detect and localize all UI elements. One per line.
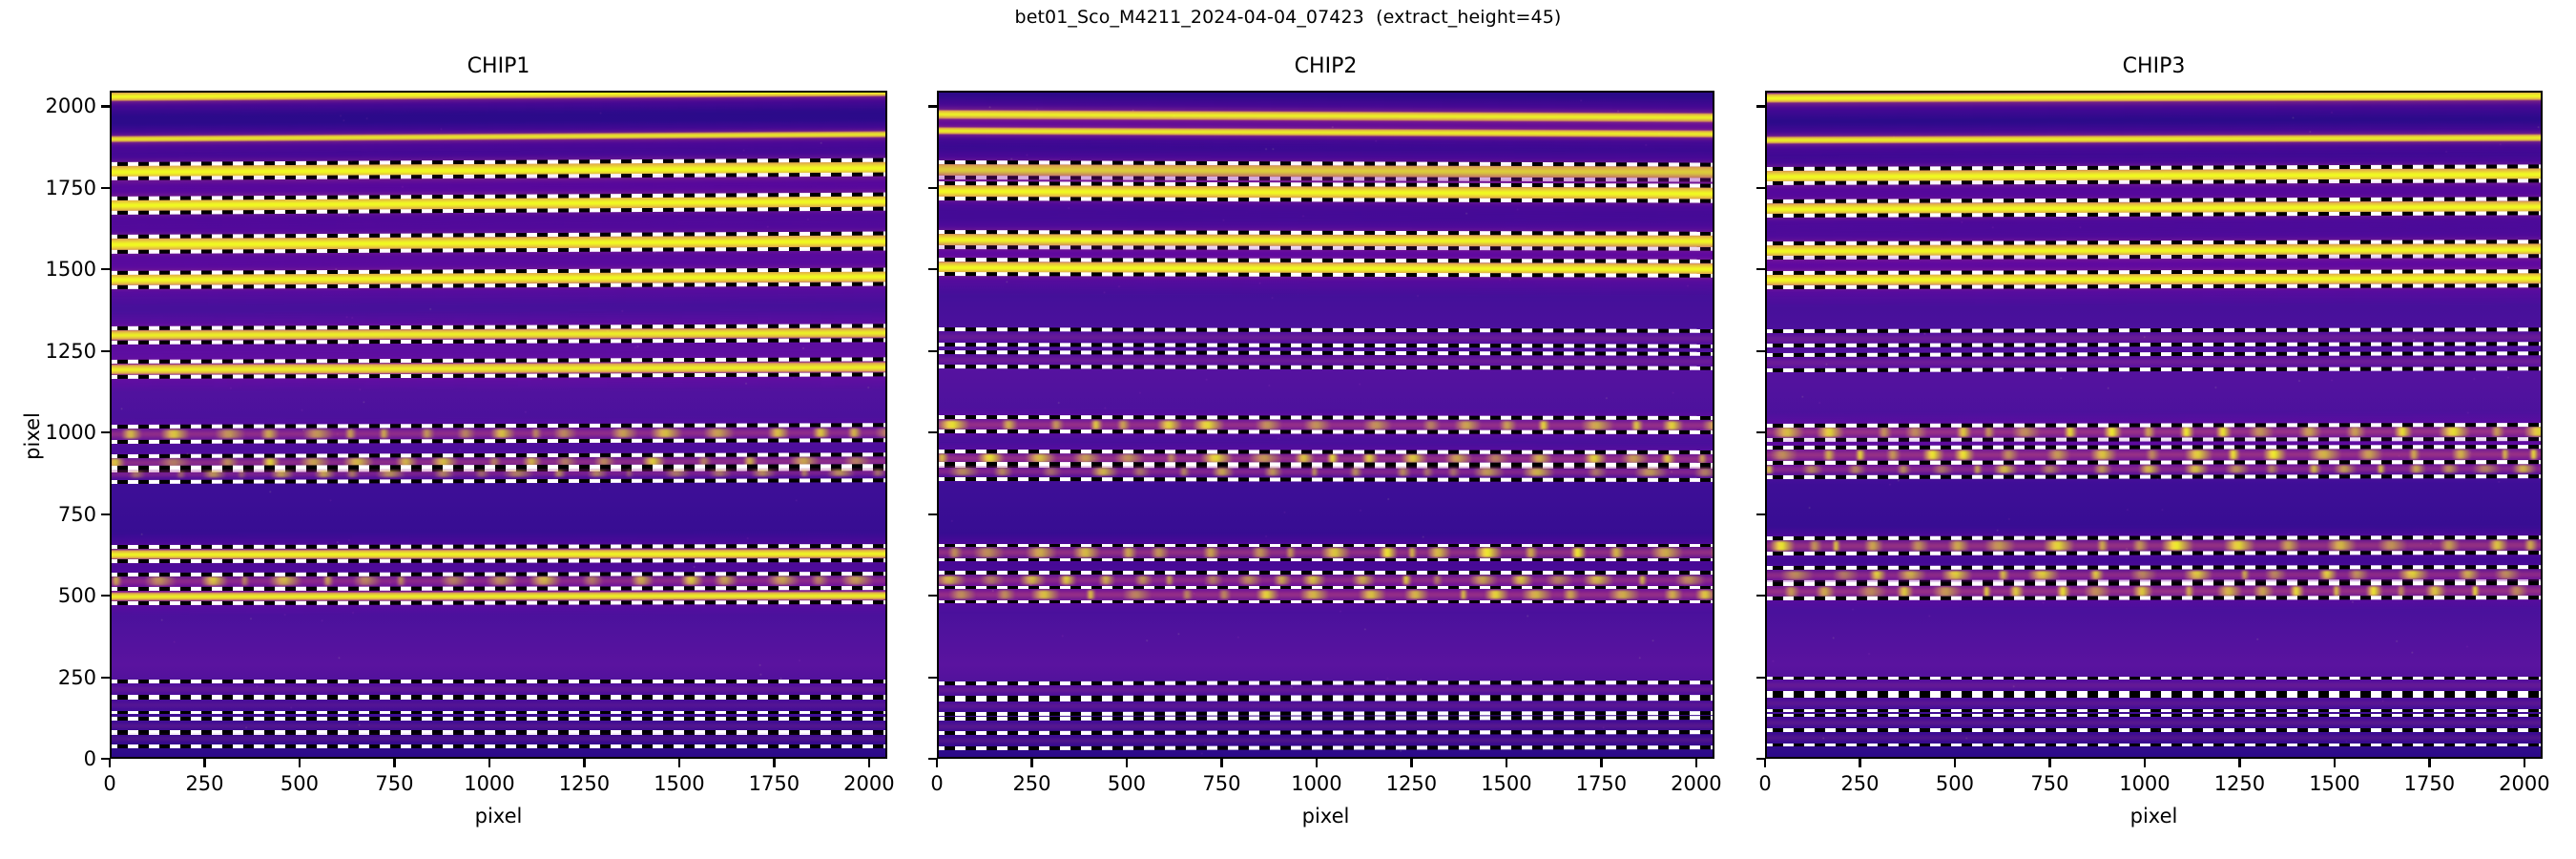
axes-chip2[interactable] bbox=[937, 91, 1714, 759]
x-tick-mark bbox=[1030, 759, 1032, 767]
y-tick-mark bbox=[1756, 431, 1765, 433]
x-tick-label: 2000 bbox=[2499, 772, 2549, 795]
x-tick-label: 1750 bbox=[749, 772, 800, 795]
figure-suptitle: bet01_Sco_M4211_2024-04-04_07423 (extrac… bbox=[0, 7, 2576, 28]
subplot-title-chip3: CHIP3 bbox=[1765, 54, 2543, 78]
x-tick-label: 1750 bbox=[2404, 772, 2455, 795]
y-tick-mark bbox=[1756, 187, 1765, 189]
axes-chip3[interactable] bbox=[1765, 91, 2543, 759]
y-tick-label: 1000 bbox=[46, 421, 96, 444]
y-tick-label: 1250 bbox=[46, 340, 96, 363]
x-tick-label: 1000 bbox=[464, 772, 514, 795]
x-tick-label: 0 bbox=[1758, 772, 1771, 795]
x-tick-mark bbox=[1316, 759, 1318, 767]
subplot-chip1: CHIP102505007501000125015001750200002505… bbox=[110, 91, 887, 759]
x-tick-label: 1250 bbox=[1386, 772, 1437, 795]
y-tick-mark bbox=[101, 187, 110, 189]
x-tick-mark bbox=[2048, 759, 2050, 767]
y-tick-mark bbox=[1756, 677, 1765, 679]
y-tick-mark bbox=[1756, 268, 1765, 270]
subplot-chip2: CHIP2025050075010001250150017502000pixel bbox=[937, 91, 1714, 759]
detector-image-chip2 bbox=[939, 93, 1713, 757]
x-tick-mark bbox=[583, 759, 585, 767]
x-tick-label: 500 bbox=[280, 772, 319, 795]
x-tick-mark bbox=[2144, 759, 2146, 767]
x-tick-mark bbox=[299, 759, 301, 767]
x-tick-label: 1250 bbox=[559, 772, 610, 795]
figure-canvas: bet01_Sco_M4211_2024-04-04_07423 (extrac… bbox=[0, 0, 2576, 859]
x-tick-mark bbox=[1859, 759, 1860, 767]
x-tick-mark bbox=[868, 759, 870, 767]
x-tick-label: 2000 bbox=[1671, 772, 1721, 795]
detector-image-chip1 bbox=[112, 93, 885, 757]
subplot-title-chip2: CHIP2 bbox=[937, 54, 1714, 78]
x-tick-mark bbox=[2334, 759, 2336, 767]
x-tick-label: 250 bbox=[1012, 772, 1050, 795]
y-tick-mark bbox=[101, 350, 110, 352]
detector-image-chip3 bbox=[1767, 93, 2541, 757]
y-tick-label: 0 bbox=[84, 747, 96, 770]
x-tick-mark bbox=[488, 759, 490, 767]
x-tick-mark bbox=[1954, 759, 1956, 767]
y-tick-mark bbox=[928, 595, 937, 597]
x-axis-label: pixel bbox=[110, 805, 887, 828]
x-tick-label: 1500 bbox=[2309, 772, 2359, 795]
x-tick-label: 750 bbox=[1202, 772, 1240, 795]
x-tick-mark bbox=[2238, 759, 2240, 767]
x-tick-label: 1250 bbox=[2214, 772, 2265, 795]
x-tick-label: 1000 bbox=[2119, 772, 2170, 795]
x-tick-mark bbox=[203, 759, 205, 767]
x-tick-label: 250 bbox=[185, 772, 223, 795]
x-tick-label: 2000 bbox=[843, 772, 894, 795]
x-tick-label: 750 bbox=[375, 772, 413, 795]
x-tick-label: 500 bbox=[1936, 772, 1974, 795]
x-axis-label: pixel bbox=[937, 805, 1714, 828]
y-tick-mark bbox=[928, 105, 937, 107]
y-tick-mark bbox=[928, 187, 937, 189]
y-tick-mark bbox=[928, 513, 937, 515]
x-tick-mark bbox=[2524, 759, 2525, 767]
x-tick-label: 1750 bbox=[1576, 772, 1627, 795]
detector-noise bbox=[112, 93, 885, 757]
y-tick-mark bbox=[101, 268, 110, 270]
y-tick-mark bbox=[101, 595, 110, 597]
subplot-chip3: CHIP3025050075010001250150017502000pixel bbox=[1765, 91, 2543, 759]
x-axis-label: pixel bbox=[1765, 805, 2543, 828]
x-tick-label: 1500 bbox=[1481, 772, 1531, 795]
x-tick-mark bbox=[1126, 759, 1128, 767]
y-tick-mark bbox=[1756, 595, 1765, 597]
x-tick-label: 500 bbox=[1108, 772, 1146, 795]
y-tick-mark bbox=[101, 431, 110, 433]
y-tick-label: 250 bbox=[58, 666, 96, 689]
x-tick-label: 250 bbox=[1840, 772, 1879, 795]
y-tick-mark bbox=[928, 268, 937, 270]
y-tick-mark bbox=[928, 677, 937, 679]
x-tick-mark bbox=[1220, 759, 1222, 767]
x-tick-mark bbox=[1410, 759, 1412, 767]
y-tick-mark bbox=[101, 513, 110, 515]
x-tick-label: 0 bbox=[930, 772, 943, 795]
axes-chip1[interactable] bbox=[110, 91, 887, 759]
y-tick-mark bbox=[1756, 105, 1765, 107]
x-tick-mark bbox=[393, 759, 395, 767]
x-tick-mark bbox=[1600, 759, 1602, 767]
x-tick-label: 1500 bbox=[654, 772, 704, 795]
x-tick-mark bbox=[109, 759, 111, 767]
y-tick-mark bbox=[928, 431, 937, 433]
x-tick-label: 0 bbox=[103, 772, 115, 795]
y-tick-mark bbox=[101, 105, 110, 107]
y-axis-label: pixel bbox=[21, 412, 44, 460]
x-tick-mark bbox=[1764, 759, 1766, 767]
x-tick-mark bbox=[678, 759, 680, 767]
y-tick-mark bbox=[928, 350, 937, 352]
detector-noise bbox=[1767, 93, 2541, 757]
x-tick-label: 1000 bbox=[1291, 772, 1341, 795]
y-tick-label: 1500 bbox=[46, 258, 96, 281]
y-tick-mark bbox=[1756, 513, 1765, 515]
y-tick-label: 2000 bbox=[46, 94, 96, 117]
y-tick-mark bbox=[1756, 350, 1765, 352]
x-tick-mark bbox=[1695, 759, 1697, 767]
subplot-title-chip1: CHIP1 bbox=[110, 54, 887, 78]
x-tick-label: 750 bbox=[2030, 772, 2068, 795]
x-tick-mark bbox=[773, 759, 775, 767]
x-tick-mark bbox=[1506, 759, 1507, 767]
y-tick-label: 1750 bbox=[46, 177, 96, 199]
y-tick-label: 750 bbox=[58, 503, 96, 526]
x-tick-mark bbox=[2428, 759, 2430, 767]
detector-noise bbox=[939, 93, 1713, 757]
x-tick-mark bbox=[936, 759, 938, 767]
y-tick-label: 500 bbox=[58, 584, 96, 607]
y-tick-mark bbox=[101, 677, 110, 679]
